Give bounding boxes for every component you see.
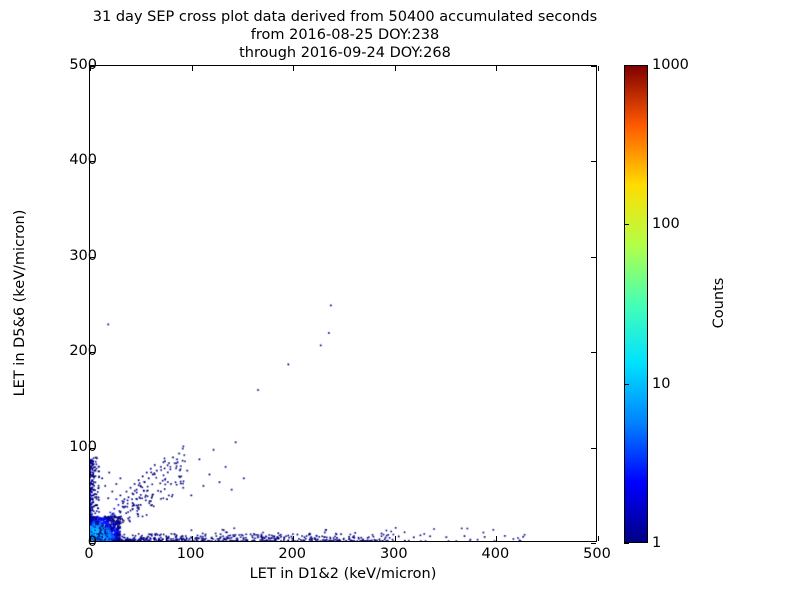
x-tick-label: 300 (380, 546, 408, 562)
x-tick-mark (496, 536, 497, 541)
title-line-3: through 2016-09-24 DOY:268 (0, 44, 690, 62)
x-tick-label: 500 (583, 546, 611, 562)
x-tick-mark (192, 66, 193, 71)
x-tick-mark (395, 66, 396, 71)
figure: 31 day SEP cross plot data derived from … (0, 0, 800, 600)
y-tick-label: 500 (69, 57, 97, 73)
colorbar-label: Counts (711, 278, 727, 329)
colorbar-tick-label: 1000 (652, 57, 689, 73)
title-line-2: from 2016-08-25 DOY:238 (0, 26, 690, 44)
colorbar-tick-mark (624, 65, 629, 66)
x-axis-label: LET in D1&2 (keV/micron) (89, 566, 597, 582)
x-tick-mark (293, 536, 294, 541)
colorbar-gradient (624, 65, 648, 543)
chart-title: 31 day SEP cross plot data derived from … (0, 8, 690, 62)
colorbar-tick-label: 1 (652, 535, 661, 551)
x-tick-mark (598, 66, 599, 71)
x-tick-label: 200 (278, 546, 306, 562)
colorbar-tick-label: 100 (652, 216, 680, 232)
plot-area (89, 65, 597, 542)
x-tick-label: 100 (177, 546, 205, 562)
x-tick-mark (598, 536, 599, 541)
y-tick-label: 100 (69, 439, 97, 455)
y-tick-label: 300 (69, 248, 97, 264)
y-tick-mark (591, 543, 596, 544)
colorbar-tick-mark (624, 543, 629, 544)
x-tick-mark (293, 66, 294, 71)
x-tick-mark (192, 536, 193, 541)
x-tick-label: 400 (482, 546, 510, 562)
colorbar-tick-mark (624, 224, 629, 225)
scatter-plot-canvas (90, 66, 596, 541)
title-line-1: 31 day SEP cross plot data derived from … (0, 8, 690, 26)
y-tick-mark (591, 352, 596, 353)
y-tick-mark (591, 257, 596, 258)
x-tick-mark (395, 536, 396, 541)
y-axis-label: LET in D5&6 (keV/micron) (12, 210, 28, 397)
y-tick-mark (591, 66, 596, 67)
y-tick-mark (591, 161, 596, 162)
y-tick-label: 200 (69, 343, 97, 359)
y-tick-label: 0 (88, 534, 97, 550)
y-tick-label: 400 (69, 152, 97, 168)
y-tick-mark (591, 448, 596, 449)
colorbar-tick-mark (624, 384, 629, 385)
colorbar-tick-label: 10 (652, 376, 670, 392)
x-tick-mark (496, 66, 497, 71)
colorbar (624, 65, 648, 543)
